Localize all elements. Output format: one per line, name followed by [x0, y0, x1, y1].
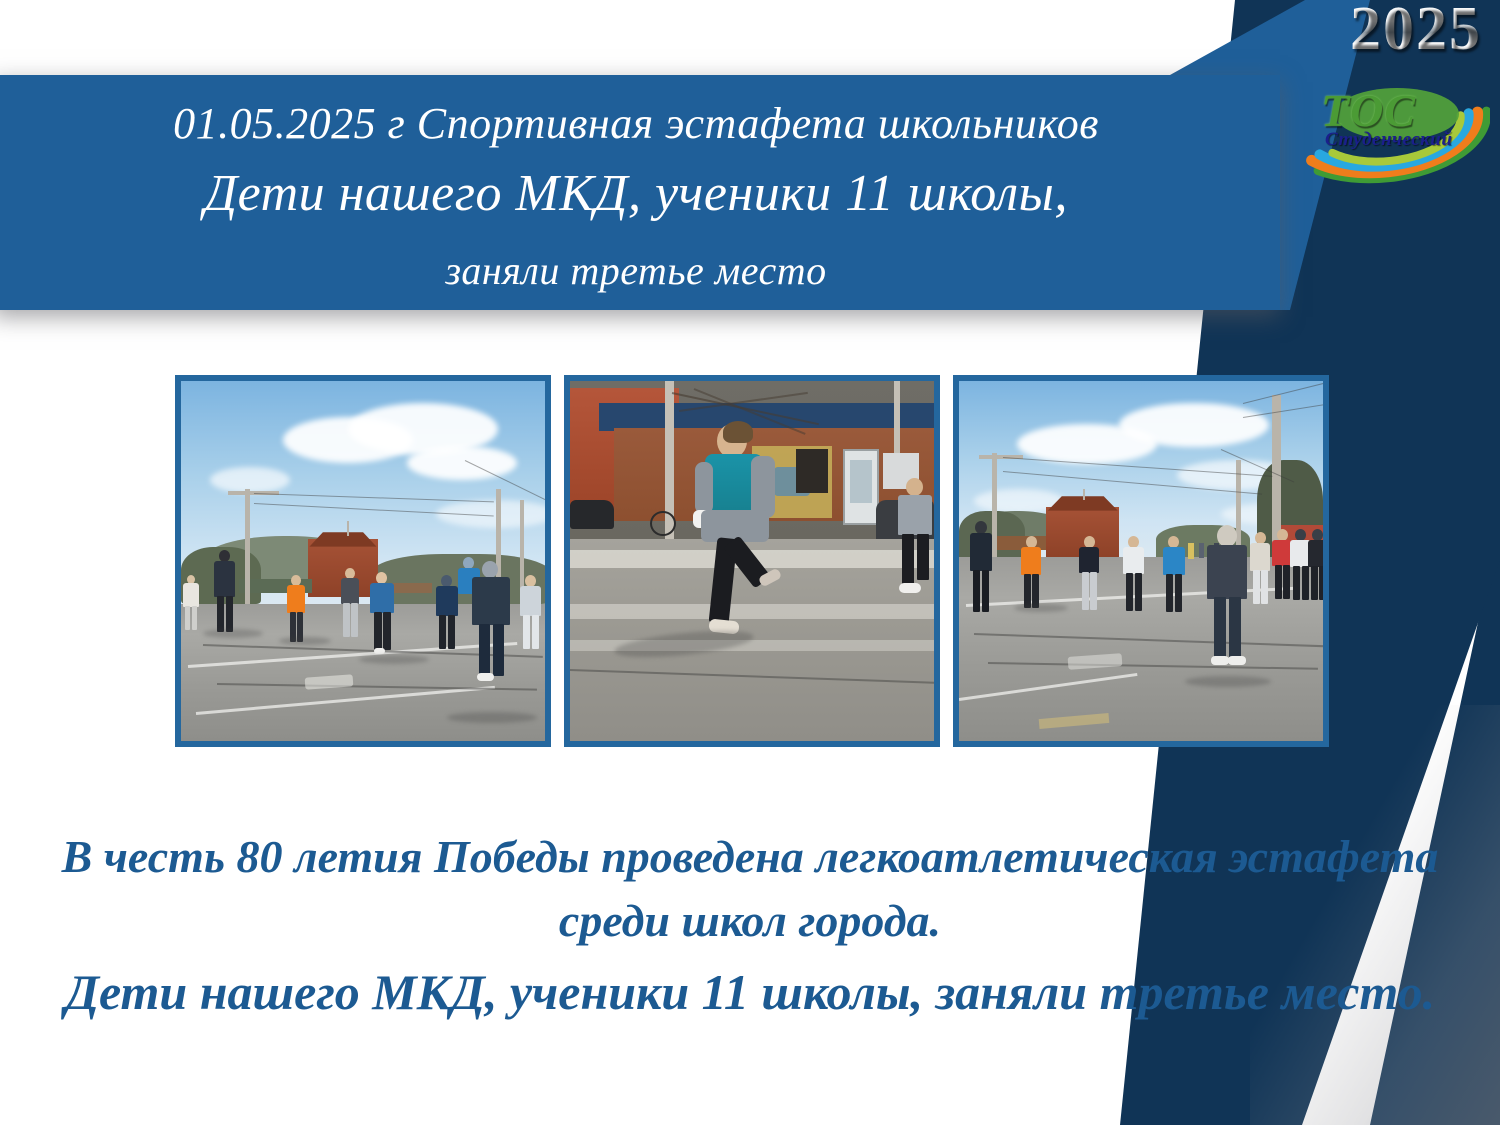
- photo-1-image: [181, 381, 545, 741]
- tos-logo: 2025 ТОС Студенческий: [1260, 0, 1490, 200]
- title-line-2: Дети нашего МКД, ученики 11 школы,: [204, 157, 1068, 231]
- caption-line-3: Дети нашего МКД, ученики 11 школы, занял…: [0, 953, 1500, 1031]
- title-banner: 01.05.2025 г Спортивная эстафета школьни…: [0, 75, 1280, 310]
- logo-subtext: Студенческий: [1325, 130, 1452, 150]
- caption-line-1: В честь 80 летия Победы проведена легкоа…: [0, 825, 1500, 889]
- photo-frame-3: [953, 375, 1329, 747]
- photo-3-image: [959, 381, 1323, 741]
- caption-block: В честь 80 летия Победы проведена легкоа…: [0, 825, 1500, 1031]
- logo-tos-text: ТОС: [1321, 88, 1416, 134]
- caption-line-2: среди школ города.: [0, 889, 1500, 953]
- logo-swoosh-icon: ТОС Студенческий: [1265, 56, 1490, 191]
- title-line-1: 01.05.2025 г Спортивная эстафета школьни…: [173, 91, 1099, 157]
- photo-gallery: [175, 375, 1330, 747]
- photo-frame-2: [564, 375, 940, 747]
- logo-year-text: 2025: [1350, 0, 1482, 62]
- presentation-slide: 01.05.2025 г Спортивная эстафета школьни…: [0, 0, 1500, 1125]
- title-line-3: заняли третье место: [445, 231, 826, 311]
- photo-frame-1: [175, 375, 551, 747]
- photo-2-image: [570, 381, 934, 741]
